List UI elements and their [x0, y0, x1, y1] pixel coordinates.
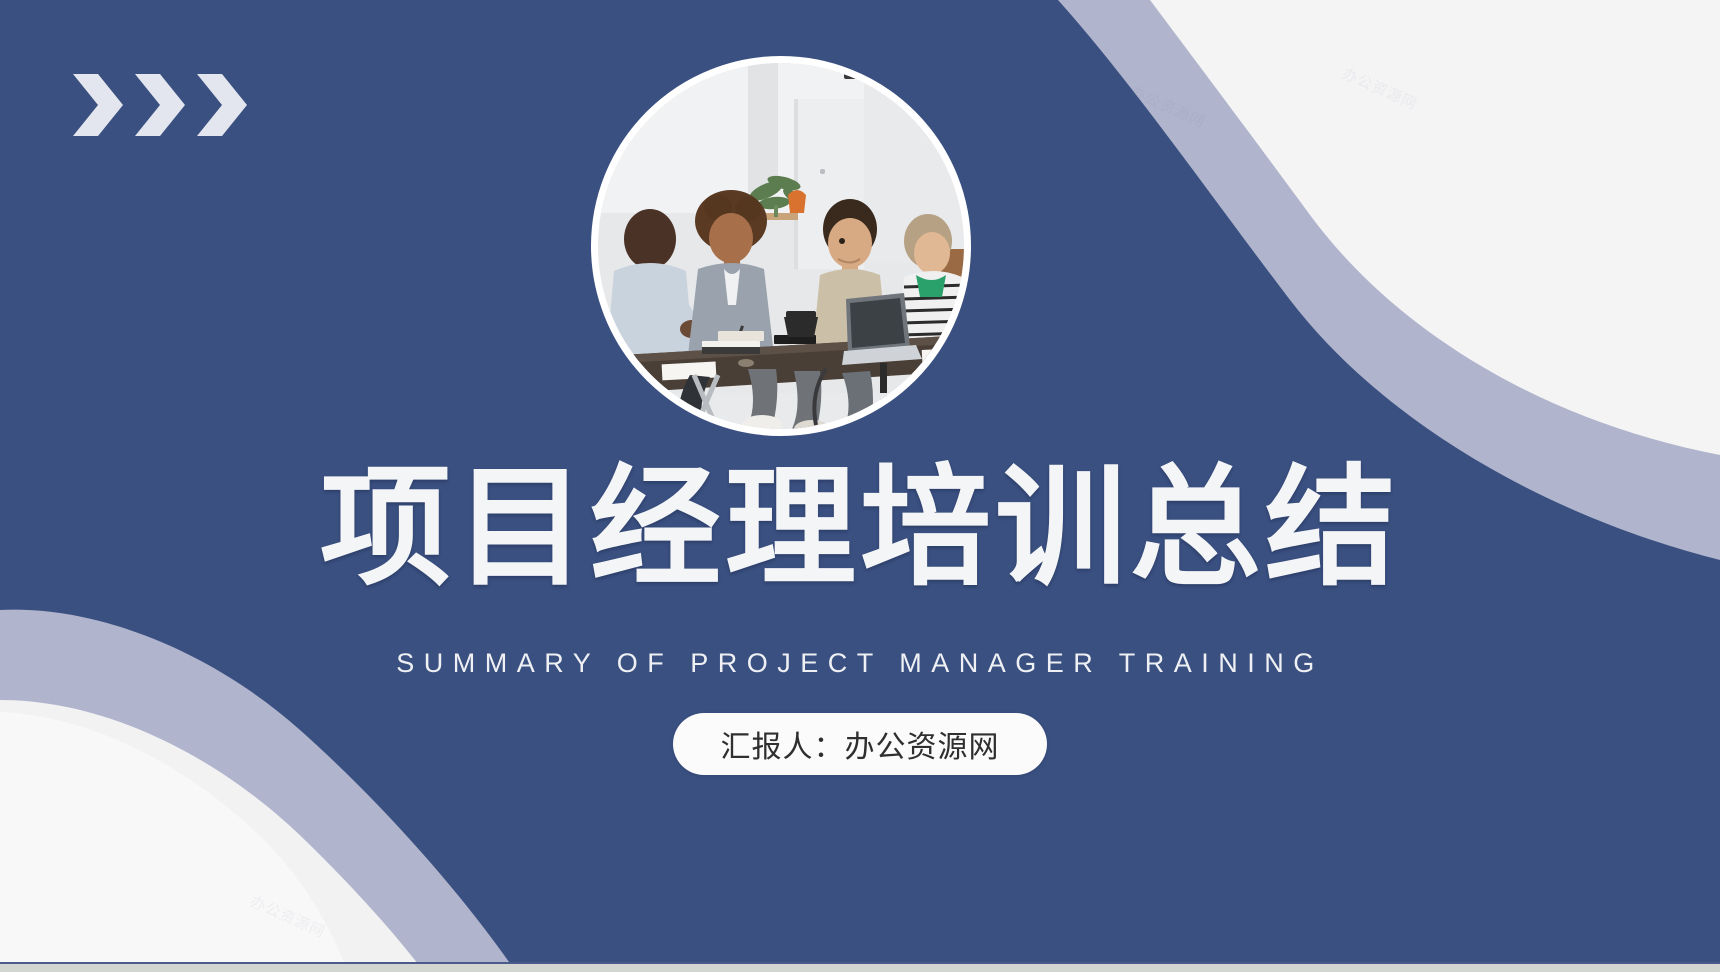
top-right-white-shape	[1150, 0, 1720, 455]
page-title: 项目经理培训总结	[0, 462, 1720, 593]
bottom-strip	[0, 962, 1720, 972]
watermark-text: 办公资源网	[1339, 63, 1421, 115]
page-subtitle: SUMMARY OF PROJECT MANAGER TRAINING	[0, 648, 1720, 679]
chevron-right-icon	[194, 72, 250, 138]
chevron-right-icon	[70, 72, 126, 138]
photo-illustration	[598, 63, 964, 429]
bottom-left-highlight-shape	[0, 712, 348, 972]
bottom-left-white-shape	[0, 700, 424, 972]
team-meeting-photo	[591, 56, 971, 436]
chevron-group	[70, 72, 250, 138]
photo-clip	[598, 63, 964, 429]
watermark-text: 办公资源网	[247, 891, 329, 943]
presenter-badge[interactable]: 汇报人：办公资源网	[673, 713, 1047, 775]
presenter-label: 汇报人：办公资源网	[721, 722, 1000, 766]
watermark-text: 办公资源网	[39, 823, 121, 875]
chevron-right-icon	[132, 72, 188, 138]
presentation-slide: 办公资源网 办公资源网 办公资源网 办公资源网	[0, 0, 1720, 972]
watermark-text: 办公资源网	[1127, 81, 1209, 133]
